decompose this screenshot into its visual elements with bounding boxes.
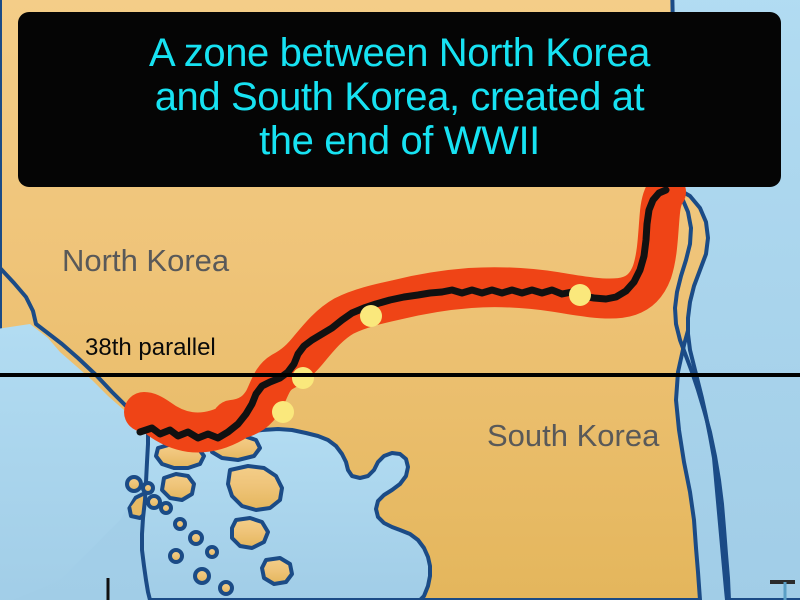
dmz-marker-central <box>360 305 382 327</box>
screenshot-root: North Korea 38th parallel South Korea A … <box>0 0 800 600</box>
label-north-korea: North Korea <box>62 243 229 279</box>
dmz-marker-west <box>272 401 294 423</box>
label-south-korea: South Korea <box>487 418 659 454</box>
label-38th-parallel: 38th parallel <box>85 334 216 362</box>
definition-text: A zone between North Korea and South Kor… <box>149 31 650 163</box>
dmz-marker-east <box>569 284 591 306</box>
dmz-marker-parallel <box>292 367 314 389</box>
definition-banner: A zone between North Korea and South Kor… <box>18 12 781 187</box>
